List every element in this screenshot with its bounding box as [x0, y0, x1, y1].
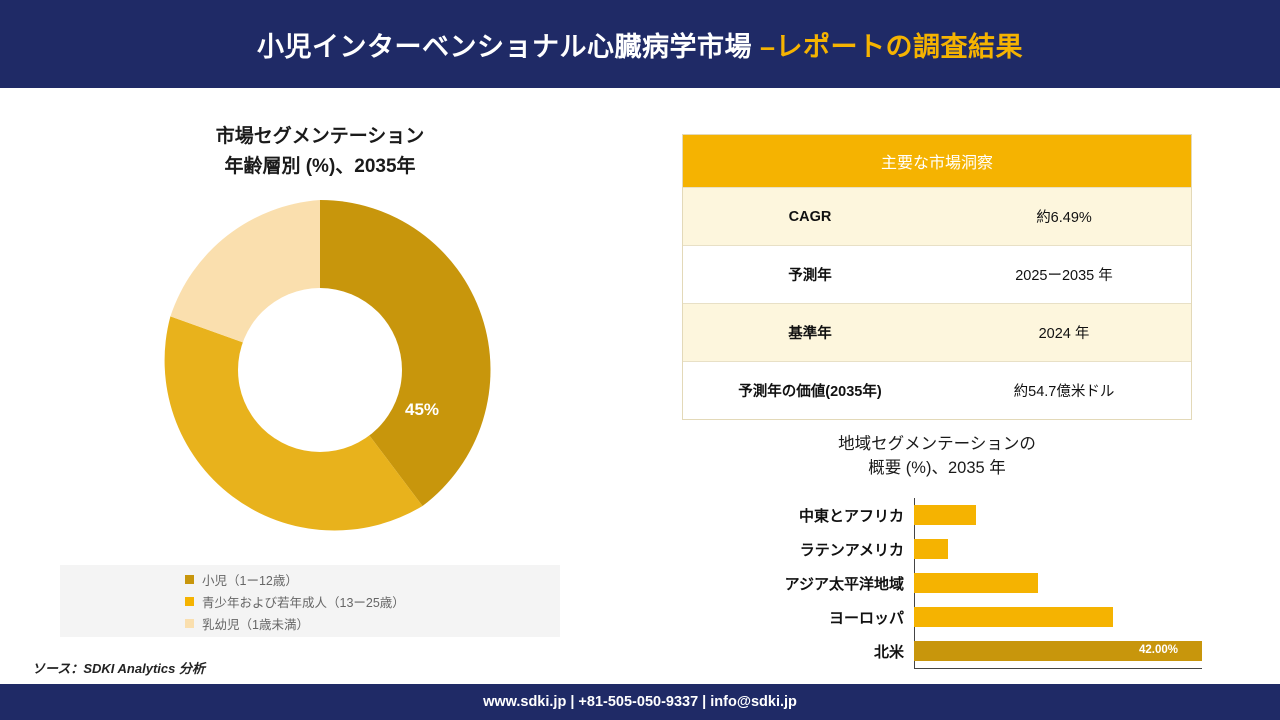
table-row: 予測年の価値(2035年) 約54.7億米ドル — [683, 361, 1191, 419]
footer-contact: www.sdki.jp | +81-505-050-9337 | info@sd… — [483, 694, 797, 710]
page-footer: www.sdki.jp | +81-505-050-9337 | info@sd… — [0, 684, 1280, 720]
table-cell-value: 2024 年 — [937, 322, 1191, 343]
header-title-wrap: 小児インターベンショナル心臓病学市場 –レポートの調査結果 — [0, 0, 1280, 88]
bar-row: 中東とアフリカ — [682, 498, 1202, 532]
table-cell-value: 2025ー2035 年 — [937, 264, 1191, 285]
bar-title-line1: 地域セグメンテーションの — [682, 432, 1192, 456]
table-header-label: 主要な市場洞察 — [881, 149, 993, 173]
table-cell-value: 約6.49% — [937, 206, 1191, 227]
legend-label: 青少年および若年成人（13ー25歳） — [202, 592, 405, 611]
bar-fill — [914, 607, 1113, 627]
page-title-accent: –レポートの調査結果 — [760, 32, 1023, 62]
bar-chart-x-axis — [914, 668, 1202, 669]
bar-row: ヨーロッパ — [682, 600, 1202, 634]
table-cell-label: 予測年の価値(2035年) — [683, 380, 937, 401]
bar-track — [914, 532, 1202, 566]
bar-row: ラテンアメリカ — [682, 532, 1202, 566]
bar-track — [914, 498, 1202, 532]
key-insights-table: 主要な市場洞察 CAGR 約6.49% 予測年 2025ー2035 年 基準年 … — [682, 134, 1192, 420]
table-row: 予測年 2025ー2035 年 — [683, 245, 1191, 303]
donut-chart-title: 市場セグメンテーション 年齢層別 (%)、2035年 — [110, 122, 530, 182]
bar-category-label: 北米 — [682, 641, 914, 662]
source-note: ソース：SDKI Analytics 分析 — [32, 658, 205, 677]
legend-label: 小児（1ー12歳） — [202, 570, 298, 589]
table-row: 基準年 2024 年 — [683, 303, 1191, 361]
table-cell-value: 約54.7億米ドル — [937, 380, 1191, 401]
bar-category-label: アジア太平洋地域 — [682, 573, 914, 594]
legend-swatch-icon — [185, 619, 194, 628]
page-title-main: 小児インターベンショナル心臓病学市場 — [257, 32, 760, 62]
bar-track: 42.00% — [914, 634, 1202, 668]
page-title: 小児インターベンショナル心臓病学市場 –レポートの調査結果 — [257, 25, 1023, 64]
donut-title-line2: 年齢層別 (%)、2035年 — [110, 152, 530, 182]
table-cell-label: 基準年 — [683, 322, 937, 343]
bar-value-label: 42.00% — [1139, 644, 1178, 656]
bar-category-label: ヨーロッパ — [682, 607, 914, 628]
bar-category-label: ラテンアメリカ — [682, 539, 914, 560]
legend-item: 青少年および若年成人（13ー25歳） — [185, 590, 560, 612]
bar-row: 北米 42.00% — [682, 634, 1202, 668]
bar-track — [914, 600, 1202, 634]
table-cell-label: CAGR — [683, 209, 937, 225]
bar-track — [914, 566, 1202, 600]
bar-fill — [914, 505, 976, 525]
bar-fill — [914, 573, 1038, 593]
donut-chart — [140, 190, 500, 550]
donut-title-line1: 市場セグメンテーション — [110, 122, 530, 152]
donut-hole — [238, 288, 402, 452]
donut-svg — [140, 190, 500, 550]
bar-chart-title: 地域セグメンテーションの 概要 (%)、2035 年 — [682, 432, 1192, 480]
legend-item: 乳幼児（1歳未満） — [185, 612, 560, 634]
bar-row: アジア太平洋地域 — [682, 566, 1202, 600]
table-row: CAGR 約6.49% — [683, 187, 1191, 245]
bar-chart: 中東とアフリカ ラテンアメリカ アジア太平洋地域 ヨーロッパ 北米 42.00% — [682, 498, 1202, 678]
bar-category-label: 中東とアフリカ — [682, 505, 914, 526]
legend-item: 小児（1ー12歳） — [185, 568, 560, 590]
table-header: 主要な市場洞察 — [683, 135, 1191, 187]
donut-value-label: 45% — [405, 400, 439, 420]
table-cell-label: 予測年 — [683, 264, 937, 285]
donut-legend: 小児（1ー12歳） 青少年および若年成人（13ー25歳） 乳幼児（1歳未満） — [60, 565, 560, 637]
legend-label: 乳幼児（1歳未満） — [202, 614, 309, 633]
legend-swatch-icon — [185, 575, 194, 584]
page-header: 小児インターベンショナル心臓病学市場 –レポートの調査結果 — [0, 0, 1280, 88]
bar-title-line2: 概要 (%)、2035 年 — [682, 456, 1192, 480]
bar-fill — [914, 539, 948, 559]
legend-swatch-icon — [185, 597, 194, 606]
